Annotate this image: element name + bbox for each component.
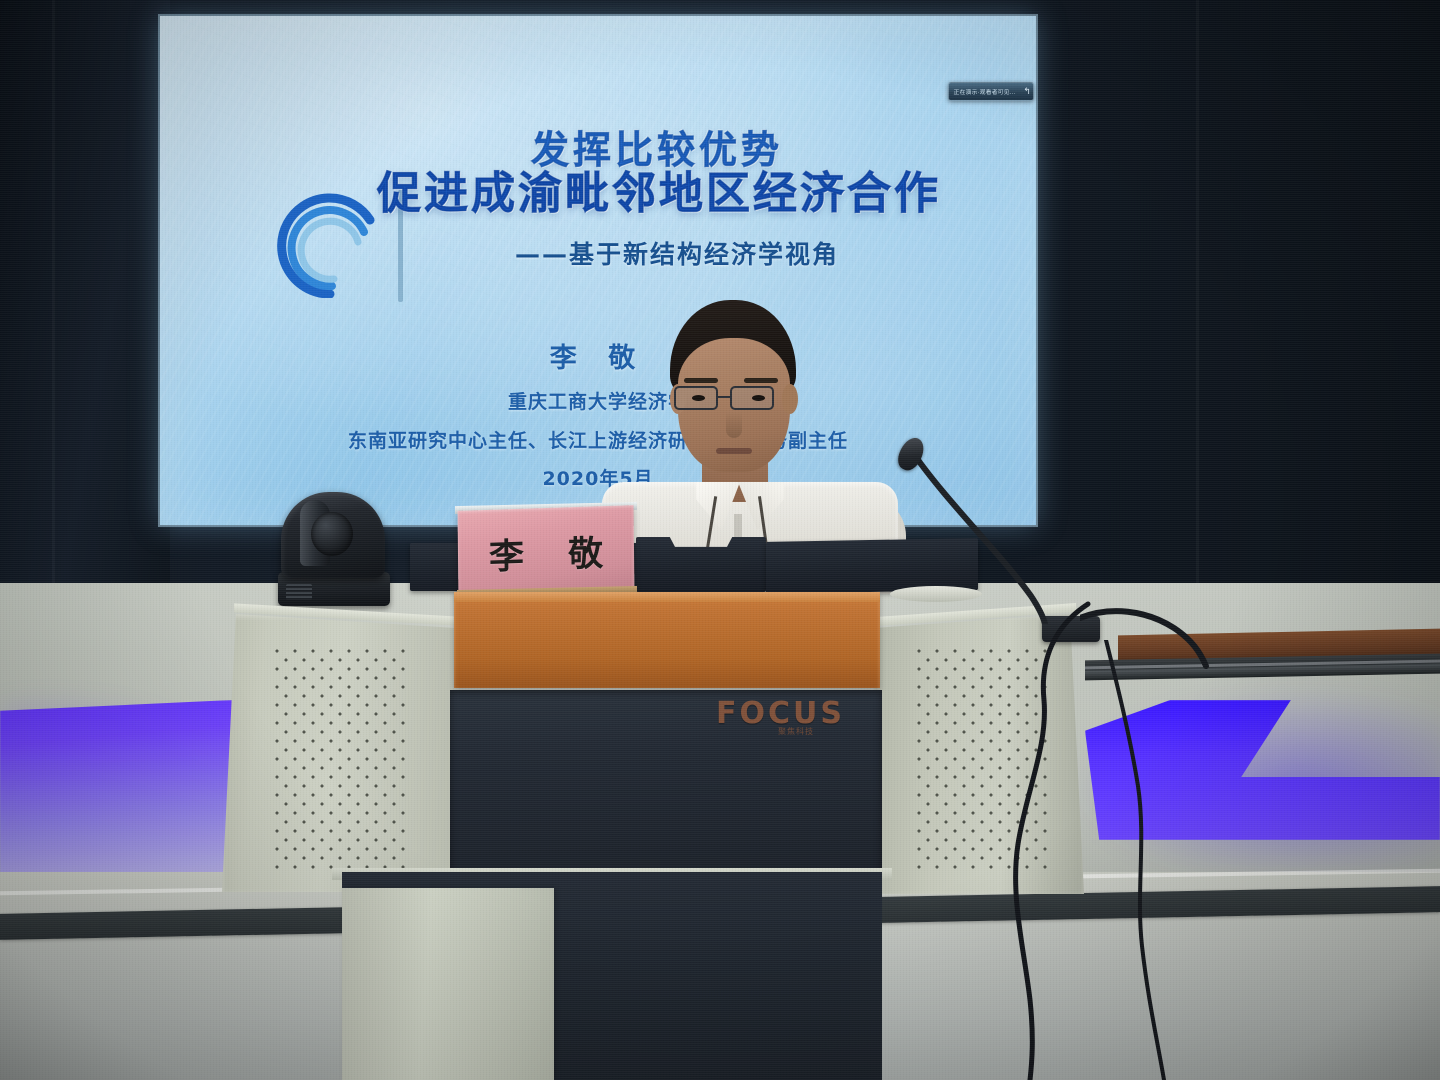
eye-left — [692, 395, 705, 401]
slide-title-line-2: 促进成渝毗邻地区经济合作 — [160, 170, 1036, 218]
eyebrow-left — [684, 378, 718, 383]
camera-lens — [311, 512, 353, 556]
return-arrow-icon[interactable]: ↰ — [1023, 87, 1031, 96]
mic-connector-cable — [1080, 600, 1210, 670]
presentation-toolbar[interactable]: 正在演示·观看者可见… ↰ — [948, 82, 1034, 101]
signal-cable — [1060, 640, 1260, 1080]
lectern-podium: FOCUS 聚焦科技 — [222, 592, 1084, 1080]
dark-backdrop-wall-left — [0, 0, 170, 600]
podium-brand-sublabel: 聚焦科技 — [778, 726, 814, 737]
slide-title-block: 发挥比较优势 促进成渝毗邻地区经济合作 ——基于新结构经济学视角 — [160, 130, 1036, 271]
presentation-status-label: 正在演示·观看者可见… — [954, 87, 1016, 96]
nose — [726, 412, 742, 438]
podium-wood-front — [454, 592, 880, 688]
lecture-hall-scene: 发挥比较优势 促进成渝毗邻地区经济合作 ——基于新结构经济学视角 李 敬 重庆工… — [0, 0, 1440, 1080]
placard-name-text: 李 敬 — [473, 524, 620, 580]
speaker-grille-left — [274, 648, 406, 874]
wall-seam-2 — [1196, 0, 1199, 600]
eye-right — [752, 395, 765, 401]
glasses-bridge — [718, 396, 730, 398]
name-placard: 李 敬 — [458, 505, 635, 599]
wall-seam-1 — [52, 0, 55, 600]
mouth — [716, 448, 752, 454]
slide-title-line-1: 发挥比较优势 — [160, 130, 1036, 170]
led-accent-panel-left — [0, 700, 232, 880]
podium-base-column — [342, 888, 554, 1080]
eyebrow-right — [744, 378, 778, 383]
podium-wood-top-edge — [454, 592, 880, 602]
slide-subtitle: ——基于新结构经济学视角 — [160, 235, 1036, 271]
